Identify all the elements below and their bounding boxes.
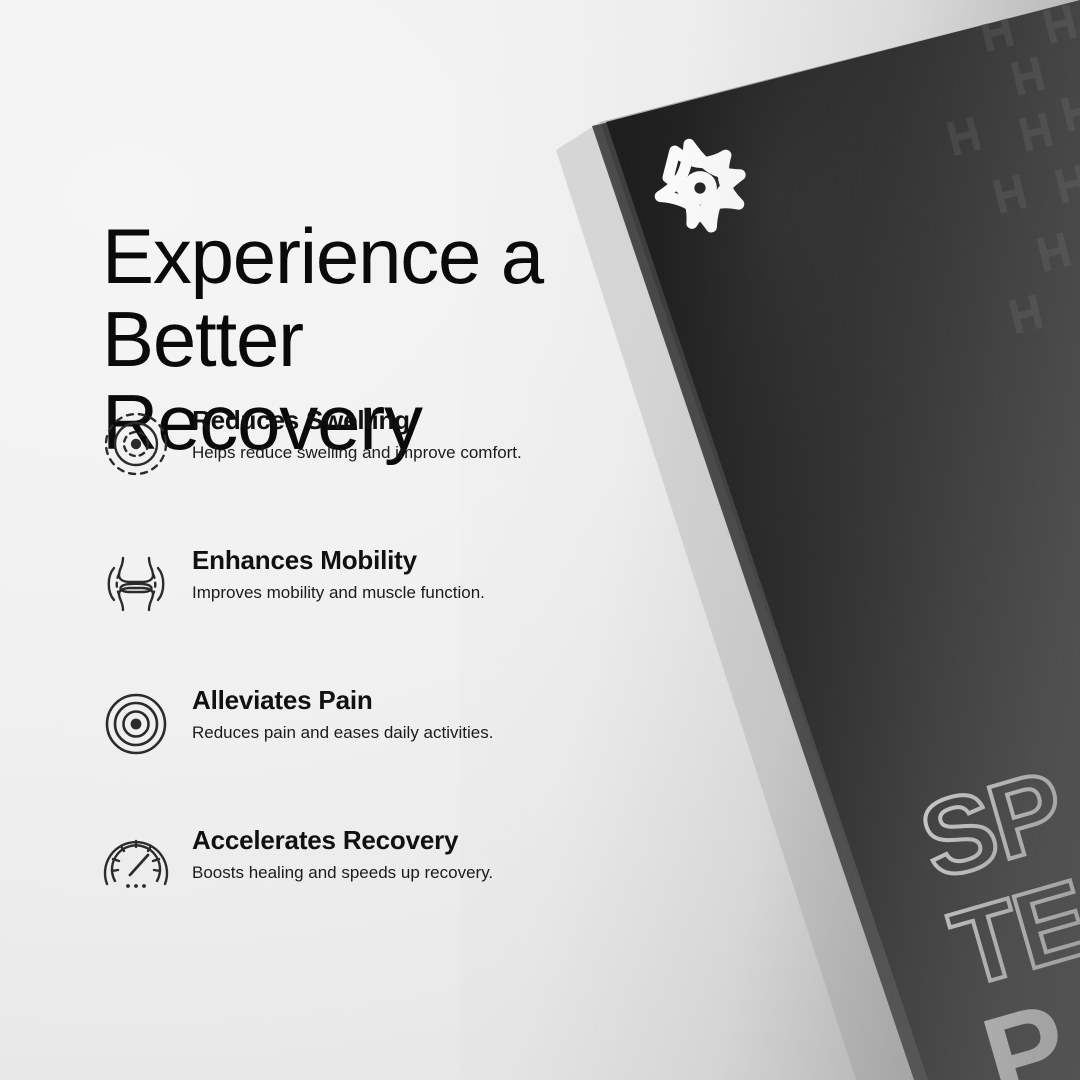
feature-item-accelerates-recovery: Accelerates Recovery Boosts healing and … xyxy=(100,822,640,962)
feature-text-block: Reduces Swelling Helps reduce swelling a… xyxy=(192,406,632,463)
feature-item-alleviates-pain: Alleviates Pain Reduces pain and eases d… xyxy=(100,682,640,822)
feature-description: Boosts healing and speeds up recovery. xyxy=(192,862,632,883)
feature-item-reduces-swelling: Reduces Swelling Helps reduce swelling a… xyxy=(100,402,640,542)
product-feature-graphic: SP TE P Experience a Better Recovery xyxy=(0,0,1080,1080)
feature-description: Helps reduce swelling and improve comfor… xyxy=(192,442,632,463)
feature-text-block: Accelerates Recovery Boosts healing and … xyxy=(192,826,632,883)
feature-title: Reduces Swelling xyxy=(192,406,632,436)
feature-text-block: Alleviates Pain Reduces pain and eases d… xyxy=(192,686,632,743)
feature-description: Reduces pain and eases daily activities. xyxy=(192,722,632,743)
feature-list: Reduces Swelling Helps reduce swelling a… xyxy=(100,402,640,962)
feature-text-block: Enhances Mobility Improves mobility and … xyxy=(192,546,632,603)
feature-title: Alleviates Pain xyxy=(192,686,632,716)
feature-item-enhances-mobility: Enhances Mobility Improves mobility and … xyxy=(100,542,640,682)
feature-title: Accelerates Recovery xyxy=(192,826,632,856)
feature-title: Enhances Mobility xyxy=(192,546,632,576)
feature-description: Improves mobility and muscle function. xyxy=(192,582,632,603)
joint-mobility-icon xyxy=(100,548,172,620)
speedometer-gauge-icon xyxy=(100,828,172,900)
headline-line-1: Experience a xyxy=(102,212,543,300)
concentric-dashed-rings-icon xyxy=(100,408,172,480)
bullseye-target-icon xyxy=(100,688,172,760)
